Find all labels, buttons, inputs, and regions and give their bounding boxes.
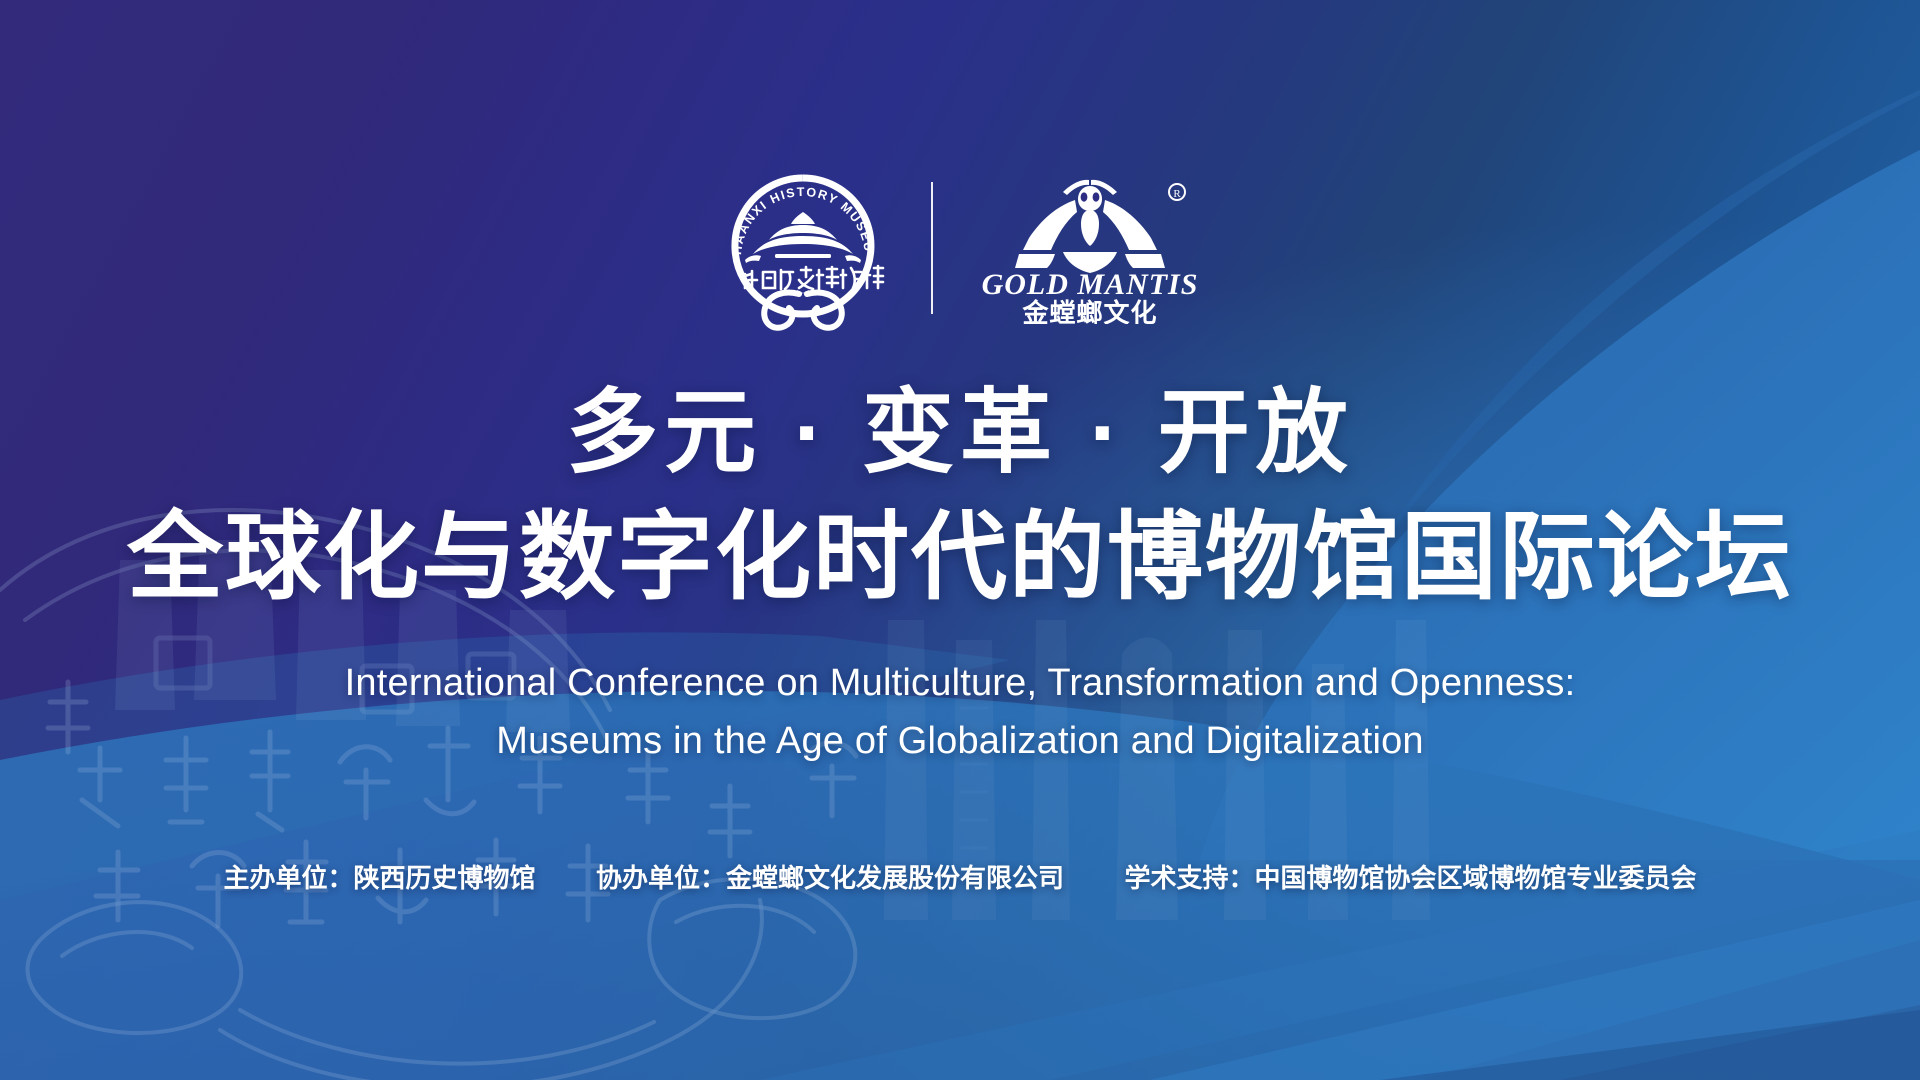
subtitle-english-line-1: International Conference on Multiculture… <box>0 655 1920 713</box>
gold-mantis-cn-name: 金螳螂文化 <box>1021 298 1157 324</box>
title-chinese-secondary: 全球化与数字化时代的博物馆国际论坛 <box>0 508 1920 609</box>
organizer-coorganizer: 协办单位：金螳螂文化发展股份有限公司 <box>596 858 1064 895</box>
registered-mark-icon: R <box>1169 184 1185 200</box>
subtitle-english: International Conference on Multiculture… <box>0 655 1920 771</box>
title-chinese-primary: 多元 · 变革 · 开放 <box>0 385 1920 482</box>
logo-row: SHAANXI HISTORY MUSEUM <box>0 160 1920 335</box>
subtitle-english-line-2: Museums in the Age of Globalization and … <box>0 713 1920 771</box>
organizer-host: 主办单位：陕西历史博物馆 <box>224 858 536 895</box>
organizer-academic-support: 学术支持：中国博物馆协会区域博物馆专业委员会 <box>1124 858 1696 895</box>
conference-banner: SHAANXI HISTORY MUSEUM <box>0 0 1920 1080</box>
organizers-line: 主办单位：陕西历史博物馆 协办单位：金螳螂文化发展股份有限公司 学术支持：中国博… <box>0 858 1920 895</box>
shaanxi-history-museum-logo: SHAANXI HISTORY MUSEUM <box>719 162 887 334</box>
gold-mantis-wordmark: GOLD MANTIS <box>982 268 1199 301</box>
svg-text:R: R <box>1173 188 1181 200</box>
logo-divider <box>931 182 933 314</box>
gold-mantis-logo: R GOLD MANTIS 金螳螂文化 <box>979 172 1201 324</box>
